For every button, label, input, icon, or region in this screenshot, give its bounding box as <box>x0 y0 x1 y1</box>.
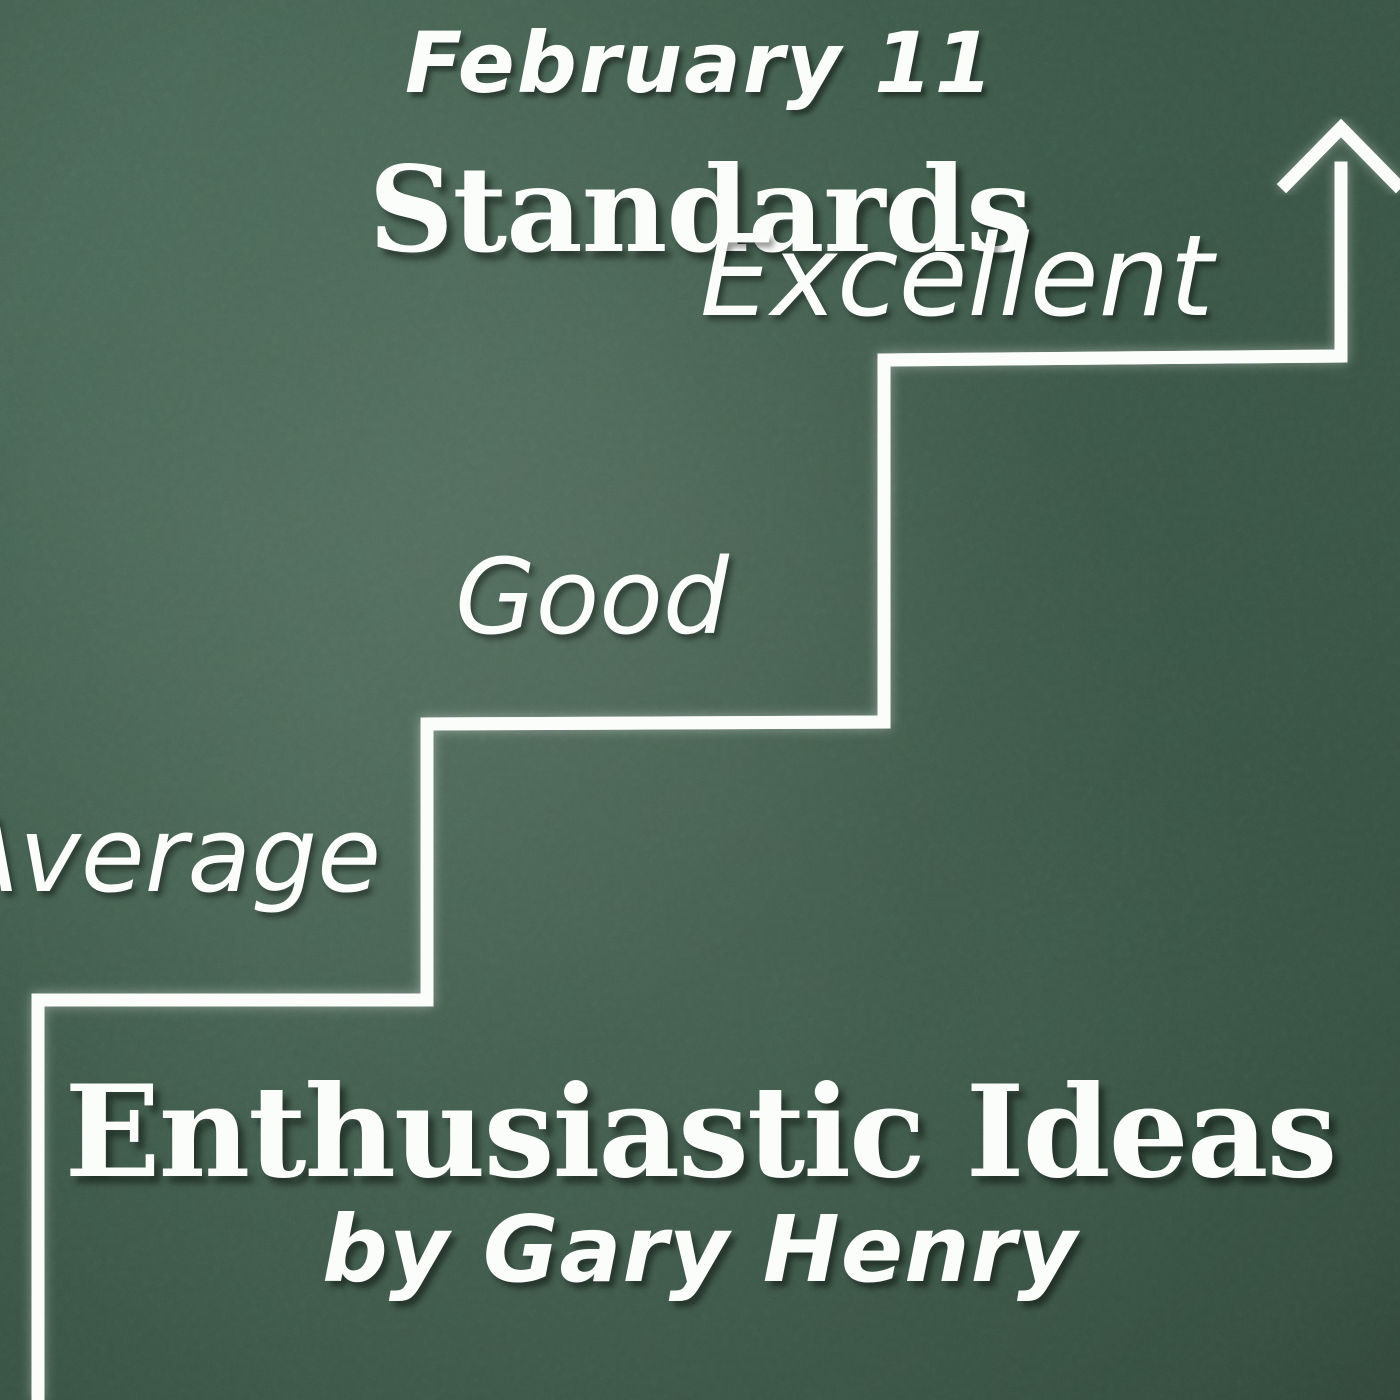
step-label-good: Good <box>455 536 729 658</box>
episode-date: February 11 <box>0 14 1400 112</box>
step-label-excellent: Excellent <box>700 212 1214 342</box>
cover-art-canvas: February 11 Standards Excellent Good Ave… <box>0 0 1400 1400</box>
program-byline: by Gary Henry <box>0 1196 1400 1303</box>
program-title: Enthusiastic Ideas <box>0 1058 1400 1206</box>
step-label-average: Average <box>0 794 381 916</box>
